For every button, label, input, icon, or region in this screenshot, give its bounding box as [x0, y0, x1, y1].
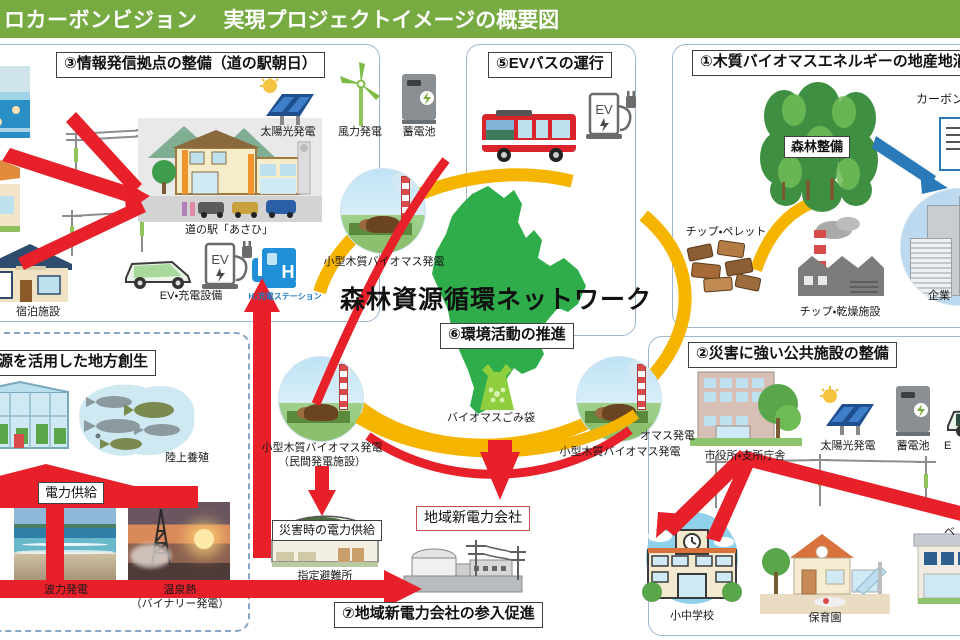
caption-section-2[interactable]: ②災害に強い公共施設の整備 — [688, 342, 897, 368]
solar-panel-icon — [258, 76, 318, 126]
caption-section-6[interactable]: ⑥環境活動の推進 — [440, 323, 574, 349]
nursery-label: 保育園 — [790, 612, 860, 625]
regional-power-company-caption[interactable]: 地域新電力会社 — [416, 506, 530, 531]
ev-bus-image — [478, 108, 580, 164]
battery-storage-icon-s2 — [892, 382, 934, 438]
caption-section-7[interactable]: ⑦地域新電力会社の参入促進 — [334, 602, 543, 628]
battery-label-s3: 蓄電池 — [396, 126, 442, 139]
solar-label-s3: 太陽光発電 — [258, 126, 318, 139]
blue-arrow-forest-to-company — [874, 130, 960, 210]
forest-management-caption[interactable]: 森林整備 — [784, 136, 850, 158]
onsen-label: 温泉熱 — [128, 584, 232, 597]
header-subtitle: 実現プロジェクトイメージの概要図 — [224, 4, 560, 34]
wind-turbine-icon — [336, 62, 386, 126]
bus-ev-charger-icon: EV — [586, 88, 638, 146]
wind-label-s3: 風力発電 — [330, 126, 390, 139]
power-supply-caption[interactable]: 電力供給 — [38, 482, 104, 504]
aquaculture-label: 陸上養殖 — [152, 452, 222, 465]
biomass-bag-label: バイオマスごみ袋 — [416, 412, 566, 425]
company-label: 企業 — [928, 290, 950, 303]
ev-label-s2: E — [944, 440, 951, 453]
solar-label-s2: 太陽光発電 — [818, 440, 878, 453]
caption-section-1[interactable]: ①木質バイオマスエネルギーの地産地消 — [692, 50, 960, 76]
chip-drying-facility-image — [788, 216, 892, 300]
carbon-credit-label: カーボン — [916, 92, 960, 106]
network-title: 森林資源循環ネットワーク — [340, 280, 652, 316]
caption-section-3[interactable]: ③情報発信拠点の整備（道の駅朝日） — [56, 52, 325, 78]
red-arrow-up-h2 — [254, 292, 290, 308]
greenhouse-image — [0, 382, 70, 454]
shelter-label: 指定避難所 — [282, 570, 368, 583]
biomass-plant-label-top-left: 小型木質バイオマス発電 — [316, 256, 452, 269]
school-label: 小中学校 — [648, 610, 736, 623]
svg-text:EV: EV — [211, 252, 229, 267]
svg-text:EV: EV — [595, 102, 613, 117]
caption-section-5[interactable]: ⑤EVバスの運行 — [488, 52, 612, 78]
caption-section-4[interactable]: ネ資源を活用した地方創生 — [0, 350, 156, 376]
biomass-right-cut-label: オマス発電 — [640, 430, 730, 443]
aquaculture-image — [70, 378, 202, 462]
city-hall-label: 市役所・支所庁舎 — [686, 450, 804, 463]
ev-car-icon-s2 — [942, 396, 960, 438]
solar-panel-icon-s2 — [818, 386, 878, 436]
battery-label-s2: 蓄電池 — [888, 440, 938, 453]
onsen-sub-label: （バイナリー発電） — [122, 598, 238, 611]
page-header: ロカーボンビジョン 実現プロジェクトイメージの概要図 — [0, 0, 960, 38]
diagram-root: ロカーボンビジョン 実現プロジェクトイメージの概要図 森林資源循環ネットワーク … — [0, 0, 960, 640]
power-plant-image — [398, 536, 538, 604]
red-arrow-down-to-shelter — [306, 466, 338, 518]
partial-right-label: ベ — [944, 526, 955, 539]
wood-chips-image — [684, 240, 770, 294]
battery-storage-icon — [398, 70, 440, 126]
disaster-power-caption[interactable]: 災害時の電力供給 — [272, 520, 382, 541]
biomass-plant-label-mid-left-1: 小型木質バイオマス発電 — [252, 442, 392, 455]
chip-drying-label: チップ・乾燥施設 — [778, 306, 902, 319]
biomass-plant-label-mid-left-2: （民間発電施設） — [252, 456, 392, 469]
biomass-plant-label-mid-right: 小型木質バイオマス発電 — [552, 446, 688, 459]
header-title: ロカーボンビジョン — [4, 4, 198, 34]
wave-power-label: 波力発電 — [16, 584, 116, 597]
chip-pellet-label: チップ・ペレット — [676, 226, 776, 239]
red-arrows-from-city-hall — [600, 450, 960, 560]
red-arrows-to-roadstation — [0, 108, 190, 308]
